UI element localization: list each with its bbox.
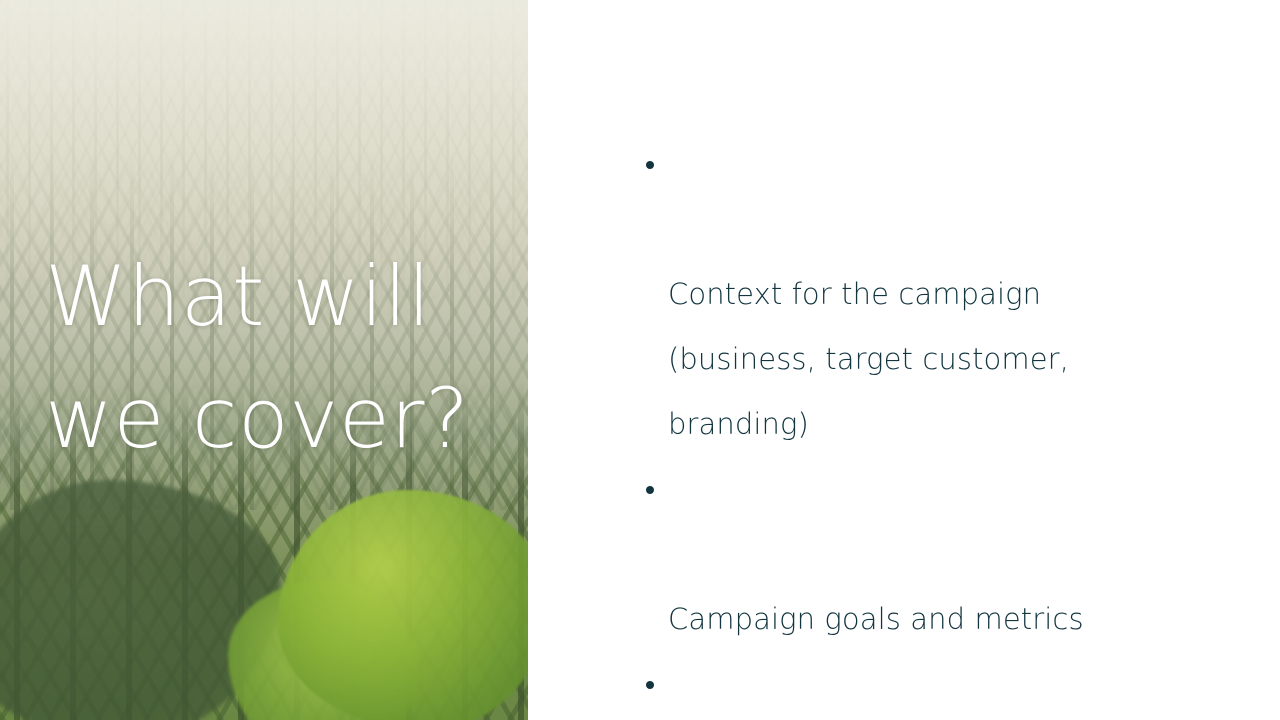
bullet-dot-icon (646, 486, 654, 494)
forest-image: What will we cover? (0, 0, 528, 720)
bullet-dot-icon (646, 161, 654, 169)
slide: What will we cover? Context for the camp… (0, 0, 1280, 720)
list-item-label: Context for the campaign (business, targ… (668, 277, 1069, 441)
list-item: Campaign goals and metrics (640, 457, 1200, 652)
list-item: Context for the campaign (business, targ… (640, 132, 1200, 457)
bullet-dot-icon (646, 681, 654, 689)
list-item-label: Campaign goals and metrics (668, 602, 1084, 636)
forest-bright-bush (278, 490, 528, 720)
agenda-bullet-list: Context for the campaign (business, targ… (640, 132, 1200, 720)
slide-title: What will we cover? (45, 236, 515, 480)
list-item: Campaign content (640, 652, 1200, 720)
